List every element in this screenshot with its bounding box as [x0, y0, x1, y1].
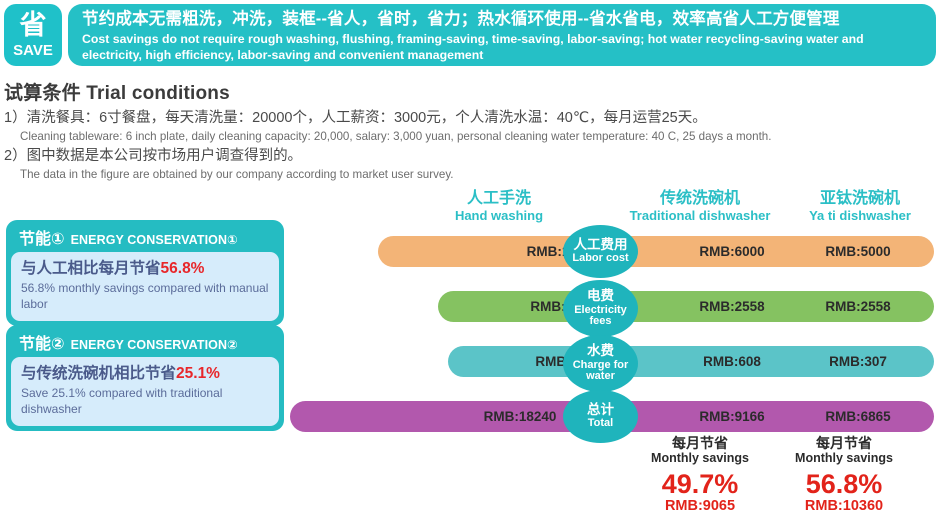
chart-column-headers: 人工手洗 Hand washing 传统洗碗机 Traditional dish…	[0, 190, 940, 232]
column-header-traditional-dishwasher-en: Traditional dishwasher	[600, 208, 800, 224]
trial-item-1-cn: 1）清洗餐具：6寸餐盘，每天清洗量：20000个，人工薪资：3000元，个人清洗…	[4, 109, 940, 129]
bar-row-water-charge: RMB:3000 RMB:608 RMB:307	[448, 346, 934, 377]
row-label-electricity-fees: 电费 Electricity fees	[563, 280, 638, 337]
trial-item-2-cn: 2）图中数据是本公司按市场用户调查得到的。	[4, 147, 940, 167]
value-total-yati: RMB:6865	[778, 401, 938, 432]
row-label-total: 总计 Total	[563, 390, 638, 443]
column-header-yati-dishwasher-en: Ya ti dishwasher	[780, 208, 940, 224]
row-label-total-en: Total	[588, 418, 613, 430]
header-banner: 省 SAVE 节约成本无需粗洗，冲洗，装框--省人，省时，省力；热水循环使用--…	[0, 4, 940, 66]
trial-item-1: 1）清洗餐具：6寸餐盘，每天清洗量：20000个，人工薪资：3000元，个人清洗…	[4, 109, 940, 144]
value-water-yati: RMB:307	[778, 346, 938, 377]
monthly-savings-yati-en: Monthly savings	[768, 451, 920, 467]
bar-row-labor-cost: RMB:12000 RMB:6000 RMB:5000	[378, 236, 934, 267]
row-label-electricity-fees-cn: 电费	[587, 289, 614, 303]
banner-text: 节约成本无需粗洗，冲洗，装框--省人，省时，省力；热水循环使用--省水省电，效率…	[68, 4, 936, 66]
trial-title: 试算条件 Trial conditions	[4, 78, 940, 105]
save-badge: 省 SAVE	[4, 4, 62, 66]
trial-conditions-section: 试算条件 Trial conditions 1）清洗餐具：6寸餐盘，每天清洗量：…	[4, 78, 940, 182]
monthly-savings-traditional-en: Monthly savings	[625, 451, 775, 467]
column-header-traditional-dishwasher-cn: 传统洗碗机	[600, 190, 800, 208]
value-electricity-yati: RMB:2558	[778, 291, 938, 322]
row-label-water-charge-en: Charge for water	[563, 360, 638, 383]
row-label-total-cn: 总计	[587, 403, 614, 417]
column-header-hand-washing-cn: 人工手洗	[404, 190, 594, 208]
row-label-electricity-fees-en: Electricity fees	[563, 305, 638, 328]
monthly-savings-traditional-percent: 49.7%	[625, 469, 775, 499]
monthly-savings-traditional-amount: RMB:9065	[625, 499, 775, 515]
column-header-hand-washing-en: Hand washing	[404, 208, 594, 224]
trial-item-2: 2）图中数据是本公司按市场用户调查得到的。 The data in the fi…	[4, 147, 940, 182]
monthly-savings-traditional: 每月节省 Monthly savings 49.7% RMB:9065	[625, 436, 775, 515]
monthly-savings-yati-percent: 56.8%	[768, 469, 920, 499]
column-header-yati-dishwasher: 亚钛洗碗机 Ya ti dishwasher	[780, 190, 940, 224]
monthly-savings-traditional-cn: 每月节省	[625, 436, 775, 451]
row-label-water-charge-cn: 水费	[587, 344, 614, 358]
save-badge-en: SAVE	[13, 43, 53, 58]
bar-row-electricity-fees: RMB:3240 RMB:2558 RMB:2558	[438, 291, 934, 322]
row-label-labor-cost-en: Labor cost	[572, 253, 628, 265]
row-label-water-charge: 水费 Charge for water	[563, 335, 638, 392]
banner-headline-cn: 节约成本无需粗洗，冲洗，装框--省人，省时，省力；热水循环使用--省水省电，效率…	[82, 9, 924, 30]
column-header-yati-dishwasher-cn: 亚钛洗碗机	[780, 190, 940, 208]
column-header-hand-washing: 人工手洗 Hand washing	[404, 190, 594, 224]
trial-item-1-en: Cleaning tableware: 6 inch plate, daily …	[4, 129, 940, 145]
cost-comparison-chart: 人工手洗 Hand washing 传统洗碗机 Traditional dish…	[0, 190, 940, 518]
banner-headline-en: Cost savings do not require rough washin…	[82, 32, 924, 63]
trial-item-2-en: The data in the figure are obtained by o…	[4, 167, 940, 183]
monthly-savings-yati: 每月节省 Monthly savings 56.8% RMB:10360	[768, 436, 920, 515]
save-badge-cn: 省	[20, 12, 47, 39]
row-label-labor-cost-cn: 人工费用	[574, 238, 628, 252]
monthly-savings-yati-cn: 每月节省	[768, 436, 920, 451]
column-header-traditional-dishwasher: 传统洗碗机 Traditional dishwasher	[600, 190, 800, 224]
value-labor-cost-yati: RMB:5000	[778, 236, 938, 267]
row-label-labor-cost: 人工费用 Labor cost	[563, 225, 638, 278]
monthly-savings-yati-amount: RMB:10360	[768, 499, 920, 515]
